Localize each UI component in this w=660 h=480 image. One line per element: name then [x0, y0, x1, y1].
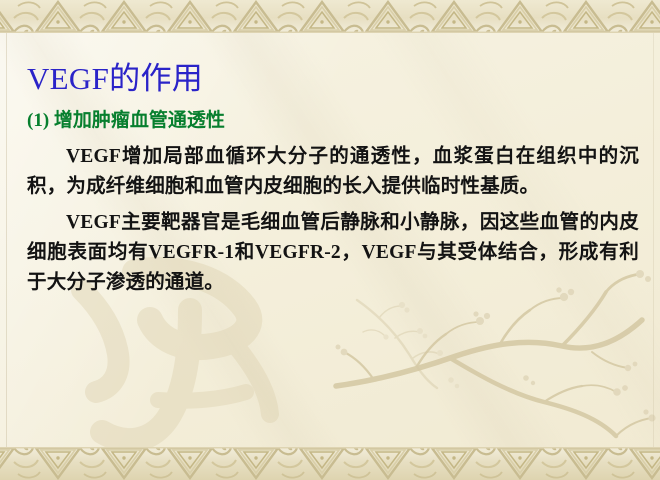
body-paragraph-2: VEGF主要靶器官是毛细血管后静脉和小静脉，因这些血管的内皮细胞表面均有VEGF… [27, 208, 639, 298]
body-paragraph-1: VEGF增加局部血循环大分子的通透性，血浆蛋白在组织中的沉积，为成纤维细胞和血管… [27, 142, 639, 202]
presentation-slide: VEGF的作用 (1) 增加肿瘤血管通透性 VEGF增加局部血循环大分子的通透性… [0, 0, 660, 480]
slide-title: VEGF的作用 [27, 62, 203, 96]
slide-subtitle: (1) 增加肿瘤血管通透性 [27, 110, 225, 132]
slide-content: VEGF的作用 (1) 增加肿瘤血管通透性 VEGF增加局部血循环大分子的通透性… [0, 0, 660, 480]
slide-body: VEGF增加局部血循环大分子的通透性，血浆蛋白在组织中的沉积，为成纤维细胞和血管… [27, 142, 639, 299]
